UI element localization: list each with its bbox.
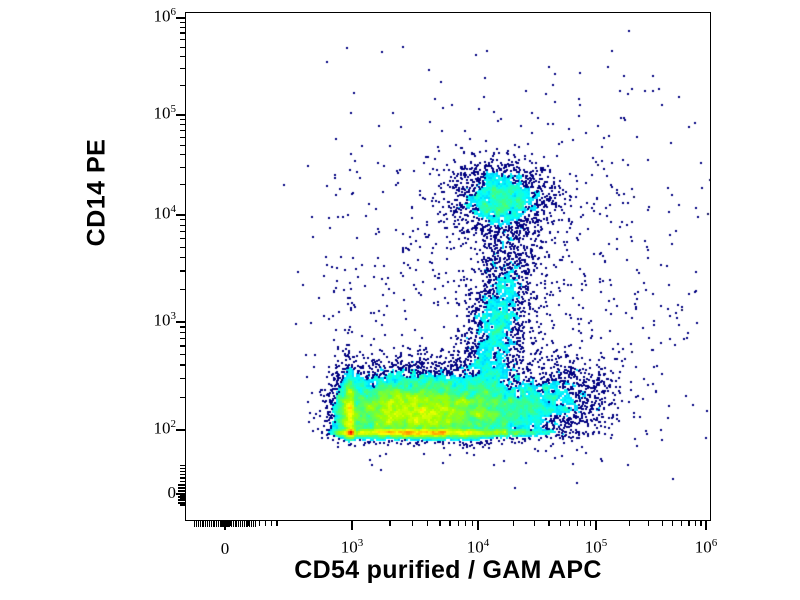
y-axis-title: CD14 PE xyxy=(83,93,112,293)
x-tick-label-1e3: 103 xyxy=(322,537,382,558)
y-tick-label-1e4: 104 xyxy=(120,203,176,224)
y-tick-label-1e6: 106 xyxy=(120,6,176,27)
x-tick-label-1e5: 105 xyxy=(566,537,626,558)
y-tick-label-1e3: 103 xyxy=(120,310,176,331)
y-tick-label-1e2: 102 xyxy=(120,418,176,439)
density-scatter-canvas xyxy=(186,13,711,521)
y-tick-label-zero: 0 xyxy=(120,483,176,503)
figure-root: 106 105 104 103 102 0 0 103 104 105 106 … xyxy=(0,0,800,600)
x-tick-label-1e4: 104 xyxy=(448,537,508,558)
y-tick-label-1e5: 105 xyxy=(120,103,176,124)
x-axis-title: CD54 purified / GAM APC xyxy=(185,556,711,585)
x-tick-label-1e6: 106 xyxy=(676,537,736,558)
scatter-plot-area xyxy=(185,12,711,521)
